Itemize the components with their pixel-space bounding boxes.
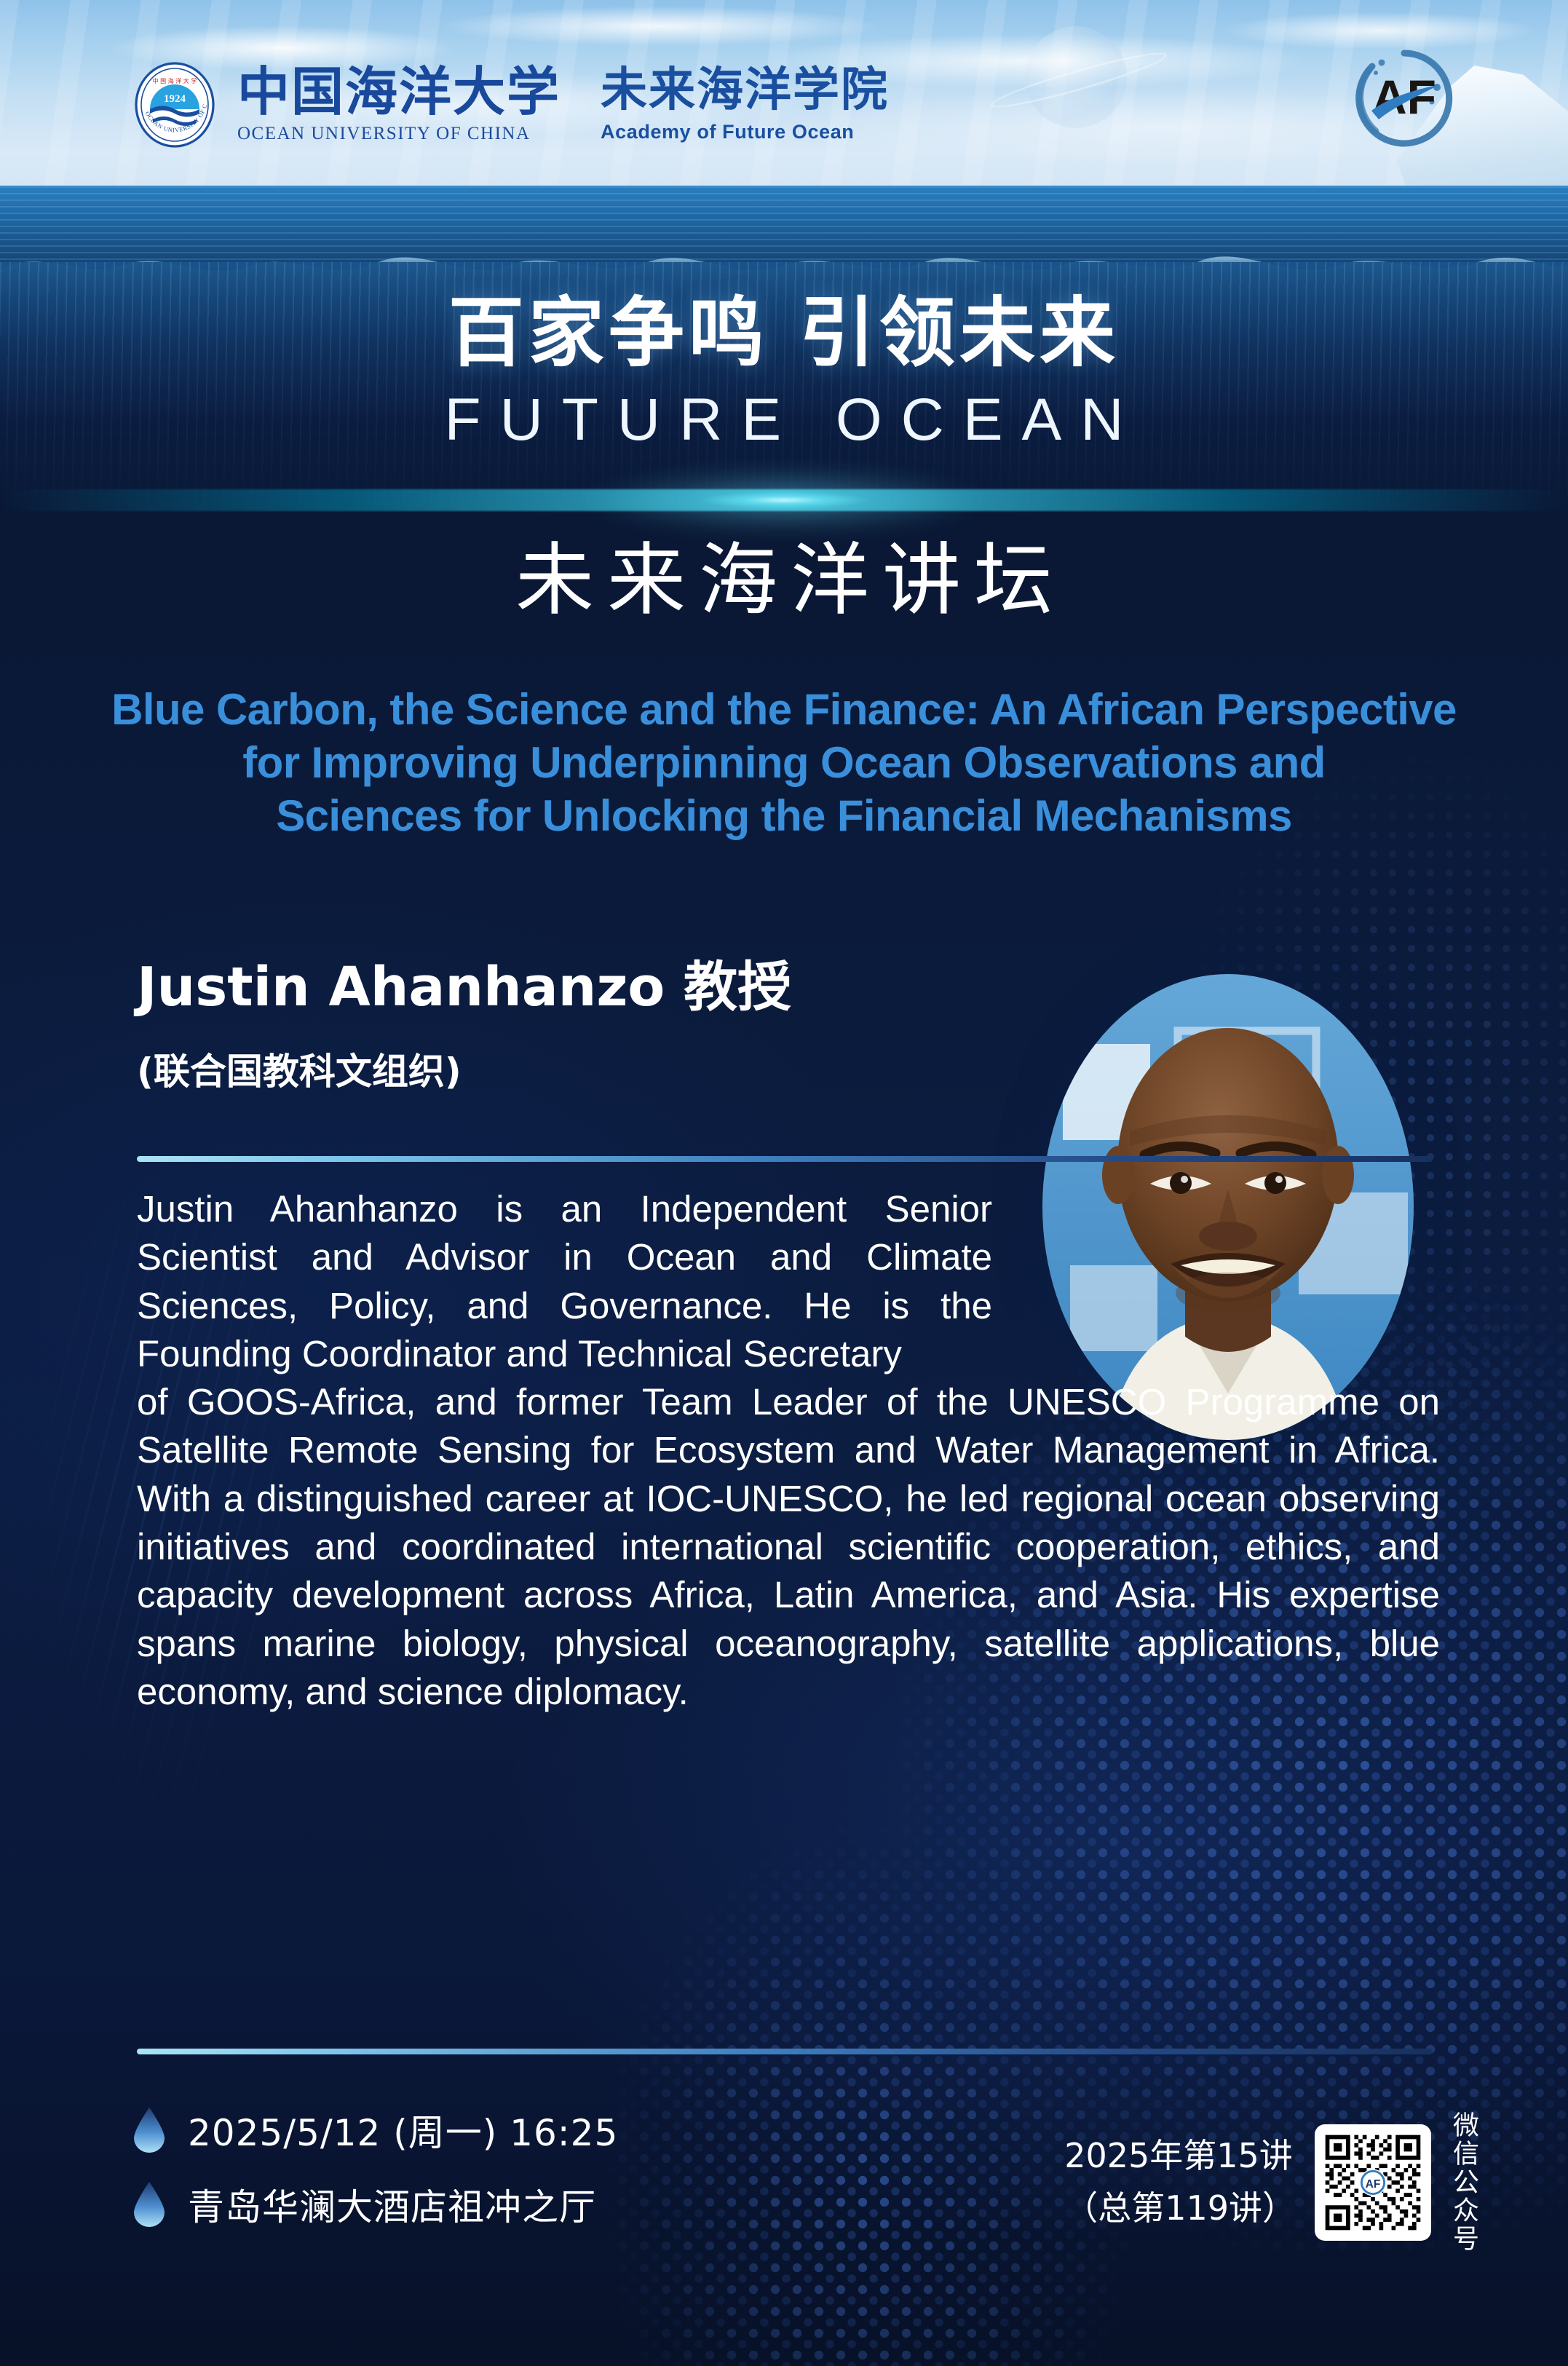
af-brush-logo-icon: AF (1350, 44, 1459, 153)
brand-logo-row: 1924 中 国 海 洋 大 学 OCEAN UNIVERSITY OF CHI… (131, 61, 889, 149)
ouc-seal-icon: 1924 中 国 海 洋 大 学 OCEAN UNIVERSITY OF CHI… (131, 61, 218, 149)
lecture-title: Blue Carbon, the Science and the Finance… (29, 683, 1539, 843)
speaker-affiliation: (联合国教科文组织) (137, 1042, 462, 1095)
wechat-qr-code[interactable]: AF (1315, 2124, 1431, 2241)
qr-center-logo-text: AF (1366, 2178, 1381, 2191)
divider-above-footer (137, 2049, 1433, 2054)
event-details: 2025/5/12 (周一) 16:25 青岛华澜大酒店祖冲之厅 (132, 2104, 618, 2252)
lecture-total: （总第119讲） (1064, 2183, 1296, 2234)
event-venue-row: 青岛华澜大酒店祖冲之厅 (132, 2178, 618, 2231)
academy-wordmark: 未来海洋学院 Academy of Future Ocean (601, 67, 889, 143)
lecture-title-line-3: Sciences for Unlocking the Financial Mec… (29, 789, 1539, 842)
speaker-bio: Justin Ahanhanzo is an Independent Senio… (137, 1185, 1440, 1716)
academy-name-en: Academy of Future Ocean (601, 121, 889, 143)
event-venue: 青岛华澜大酒店祖冲之厅 (188, 2178, 596, 2231)
lecture-title-line-1: Blue Carbon, the Science and the Finance… (29, 683, 1539, 736)
glow-divider (0, 489, 1568, 511)
poster-root: 1924 中 国 海 洋 大 学 OCEAN UNIVERSITY OF CHI… (0, 0, 1568, 2366)
qr-matrix: AF (1321, 2131, 1425, 2234)
logo-divider (579, 71, 582, 138)
ouc-name-en: OCEAN UNIVERSITY OF CHINA (237, 124, 561, 144)
event-datetime: 2025/5/12 (周一) 16:25 (188, 2104, 618, 2156)
qr-caption: 微信公众号 (1450, 2111, 1476, 2253)
water-drop-icon (132, 2182, 166, 2227)
lecture-number: 2025年第15讲 (1064, 2130, 1296, 2182)
academy-name-cn: 未来海洋学院 (601, 67, 889, 114)
lecture-index-and-qr: 2025年第15讲 （总第119讲） (1064, 2111, 1476, 2253)
ouc-name-cn: 中国海洋大学 (237, 66, 561, 118)
water-drop-icon (132, 2108, 166, 2153)
speaker-bio-rest: of GOOS-Africa, and former Team Leader o… (137, 1381, 1440, 1712)
lecture-title-line-2: for Improving Underpinning Ocean Observa… (29, 736, 1539, 789)
ouc-seal-year: 1924 (164, 93, 186, 105)
speaker-name: Justin Ahanhanzo 教授 (137, 943, 791, 1021)
ouc-wordmark: 中国海洋大学 OCEAN UNIVERSITY OF CHINA (237, 66, 561, 144)
lecture-number-block: 2025年第15讲 （总第119讲） (1064, 2130, 1296, 2234)
divider-above-bio (137, 1156, 1433, 1162)
event-datetime-row: 2025/5/12 (周一) 16:25 (132, 2104, 618, 2156)
svg-text:中 国 海 洋 大 学: 中 国 海 洋 大 学 (153, 77, 197, 84)
brand-en: FUTURE OCEAN (0, 386, 1568, 454)
forum-name-cn: 未来海洋讲坛 (0, 517, 1568, 630)
planet-icon (1025, 26, 1127, 128)
slogan-cn: 百家争鸣 引领未来 (0, 271, 1568, 381)
speaker-bio-top: Justin Ahanhanzo is an Independent Senio… (137, 1185, 992, 1378)
